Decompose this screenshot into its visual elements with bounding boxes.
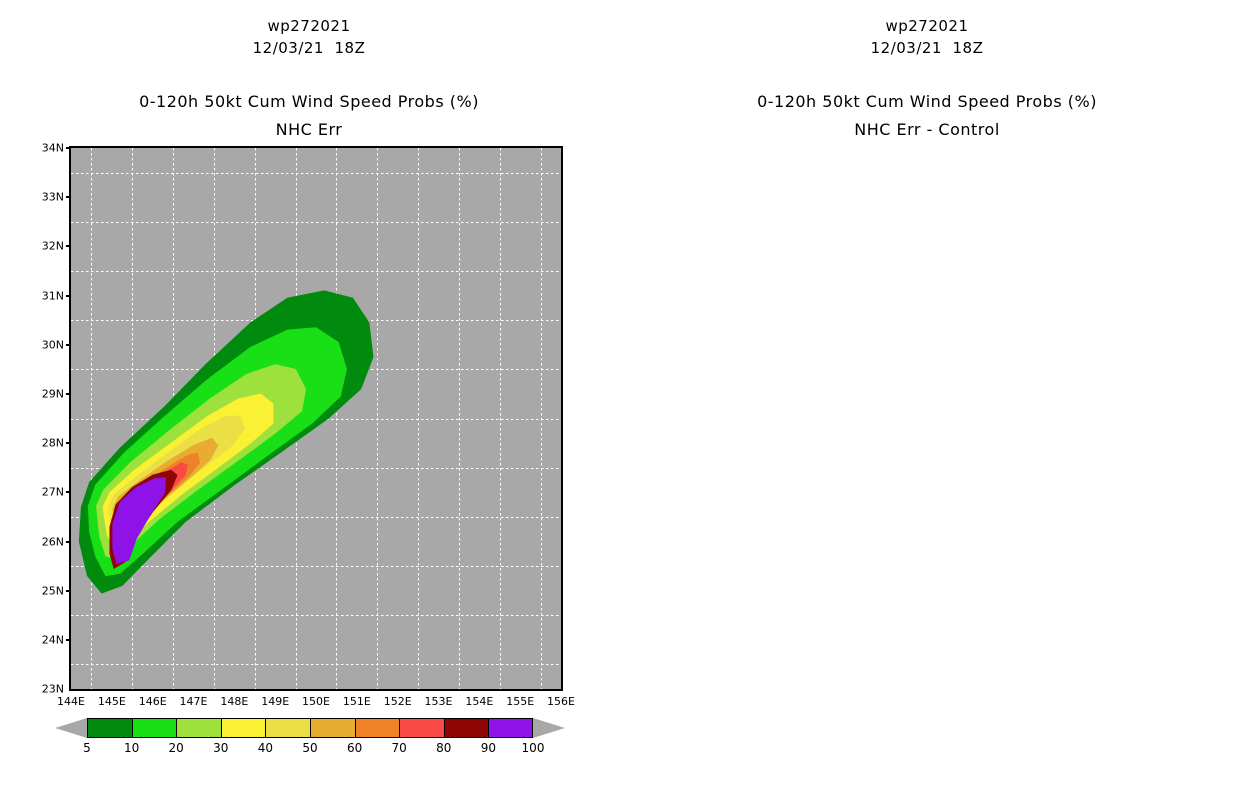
wind-probability-contours (71, 148, 561, 689)
y-axis-tick-label: 29N (42, 387, 64, 400)
left-title-storm: wp272021 (0, 16, 618, 35)
y-axis-tick-label: 32N (42, 240, 64, 253)
right-title-product: 0-120h 50kt Cum Wind Speed Probs (%) (618, 92, 1236, 111)
y-axis-tick-label: 27N (42, 486, 64, 499)
contour-field-left (71, 148, 561, 689)
colorbar-swatch[interactable] (265, 718, 310, 738)
colorbar-over-arrow (533, 718, 565, 738)
x-axis-tick-label: 152E (384, 695, 412, 708)
x-axis-tick-label: 153E (425, 695, 453, 708)
colorbar-swatch[interactable] (221, 718, 266, 738)
colorbar-swatch[interactable] (176, 718, 221, 738)
colorbar-tick-label: 90 (481, 741, 496, 755)
right-title-storm: wp272021 (618, 16, 1236, 35)
colorbar-swatch[interactable] (399, 718, 444, 738)
x-axis-tick-label: 144E (57, 695, 85, 708)
x-axis-tick-label: 147E (180, 695, 208, 708)
left-storm-id: wp272021 (267, 17, 350, 35)
right-storm-id: wp272021 (885, 17, 968, 35)
y-axis-tick-mark (66, 442, 71, 444)
y-axis-tick-label: 26N (42, 535, 64, 548)
left-product-label: 0-120h 50kt Cum Wind Speed Probs (%) (139, 92, 479, 111)
x-axis-tick-label: 156E (547, 695, 575, 708)
y-axis-tick-label: 34N (42, 142, 64, 155)
y-axis-tick-label: 31N (42, 289, 64, 302)
right-subtitle-label: NHC Err - Control (854, 120, 1000, 139)
left-datetime: 12/03/21 18Z (253, 39, 366, 57)
colorbar-tick-label: 40 (258, 741, 273, 755)
colorbar-tick-label: 80 (436, 741, 451, 755)
panel-nhc-err-minus-control: wp272021 12/03/21 18Z 0-120h 50kt Cum Wi… (618, 0, 1236, 800)
colorbar-tick-label: 10 (124, 741, 139, 755)
y-axis-tick-mark (66, 541, 71, 543)
y-axis-tick-mark (66, 590, 71, 592)
x-axis-tick-label: 155E (506, 695, 534, 708)
x-axis-tick-label: 148E (220, 695, 248, 708)
x-axis-tick-label: 150E (302, 695, 330, 708)
y-axis-tick-mark (66, 639, 71, 641)
colorbar-swatches (87, 718, 533, 738)
left-title-date: 12/03/21 18Z (0, 38, 618, 57)
y-axis-tick-label: 24N (42, 633, 64, 646)
x-axis-tick-label: 151E (343, 695, 371, 708)
y-axis-tick-mark (66, 196, 71, 198)
colorbar-swatch[interactable] (444, 718, 489, 738)
colorbar-swatch[interactable] (488, 718, 533, 738)
left-title-subtitle: NHC Err (0, 120, 618, 139)
x-axis-tick-label: 145E (98, 695, 126, 708)
x-axis-tick-label: 154E (465, 695, 493, 708)
map-plot-nhc-err[interactable]: 34N33N32N31N30N29N28N27N26N25N24N23N144E… (69, 146, 563, 691)
left-subtitle-label: NHC Err (276, 120, 343, 139)
colorbar-probability[interactable]: 5102030405060708090100 (55, 714, 565, 774)
y-axis-tick-mark (66, 245, 71, 247)
y-axis-tick-mark (66, 344, 71, 346)
colorbar-tick-label: 100 (522, 741, 545, 755)
colorbar-tick-label: 5 (83, 741, 91, 755)
colorbar-swatch[interactable] (132, 718, 177, 738)
right-datetime: 12/03/21 18Z (871, 39, 984, 57)
colorbar-swatch[interactable] (310, 718, 355, 738)
y-axis-tick-label: 30N (42, 338, 64, 351)
x-axis-tick-label: 146E (139, 695, 167, 708)
colorbar-tick-label: 60 (347, 741, 362, 755)
colorbar-tick-label: 30 (213, 741, 228, 755)
y-axis-tick-mark (66, 393, 71, 395)
colorbar-tick-label: 70 (392, 741, 407, 755)
colorbar-swatch[interactable] (355, 718, 400, 738)
colorbar-swatch[interactable] (87, 718, 132, 738)
colorbar-tick-label: 50 (302, 741, 317, 755)
colorbar-under-arrow (55, 718, 87, 738)
y-axis-tick-mark (66, 491, 71, 493)
right-product-label: 0-120h 50kt Cum Wind Speed Probs (%) (757, 92, 1097, 111)
panel-nhc-err: wp272021 12/03/21 18Z 0-120h 50kt Cum Wi… (0, 0, 618, 800)
right-title-date: 12/03/21 18Z (618, 38, 1236, 57)
colorbar-tick-label: 20 (169, 741, 184, 755)
y-axis-tick-label: 23N (42, 683, 64, 696)
y-axis-tick-mark (66, 147, 71, 149)
right-title-subtitle: NHC Err - Control (618, 120, 1236, 139)
y-axis-tick-label: 33N (42, 191, 64, 204)
y-axis-tick-mark (66, 295, 71, 297)
y-axis-tick-label: 28N (42, 437, 64, 450)
x-axis-tick-label: 149E (261, 695, 289, 708)
left-title-product: 0-120h 50kt Cum Wind Speed Probs (%) (0, 92, 618, 111)
y-axis-tick-label: 25N (42, 584, 64, 597)
